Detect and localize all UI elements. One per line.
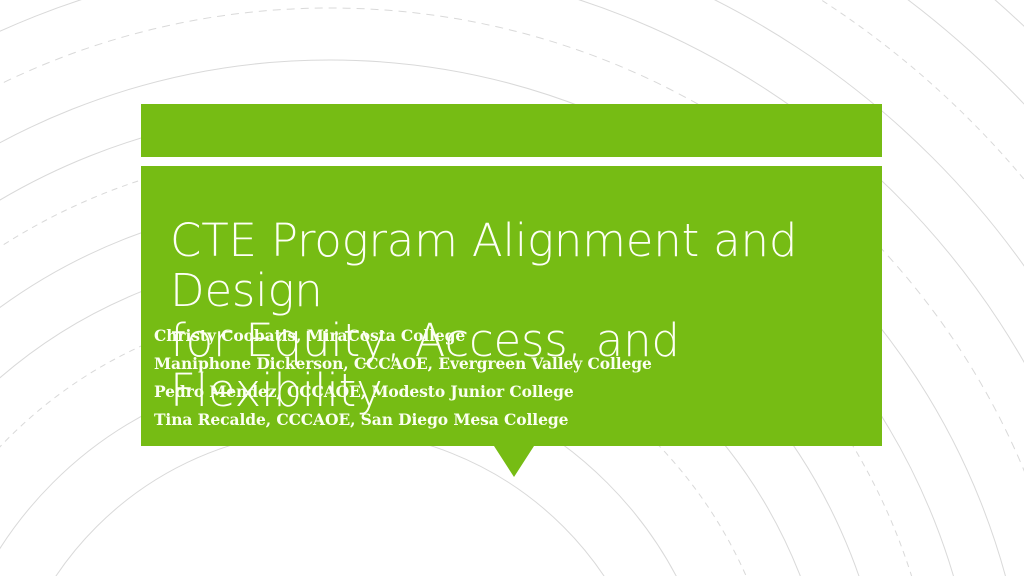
list-item: Pedro Mendez, CCCAOE, Modesto Junior Col… <box>154 378 874 406</box>
title-card: CTE Program Alignment and Design for Equ… <box>141 104 882 446</box>
presentation-slide: CTE Program Alignment and Design for Equ… <box>0 0 1024 576</box>
presenter-list: Christy Coobatis, MiraCosta College Mani… <box>154 322 874 434</box>
list-item: Maniphone Dickerson, CCCAOE, Evergreen V… <box>154 350 874 378</box>
card-top-accent-band <box>141 104 882 157</box>
list-item: Tina Recalde, CCCAOE, San Diego Mesa Col… <box>154 406 874 434</box>
card-pointer-triangle <box>494 446 534 477</box>
card-divider-line <box>141 157 882 166</box>
list-item: Christy Coobatis, MiraCosta College <box>154 322 874 350</box>
